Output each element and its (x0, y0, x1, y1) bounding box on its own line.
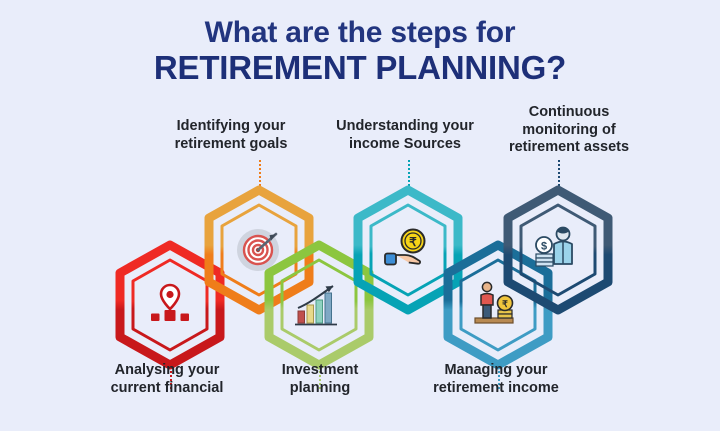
connector-dotted-continuous-monitoring (558, 160, 560, 186)
connector-dotted-identifying-retirement-goals (259, 160, 261, 186)
step-label-continuous-monitoring: Continuous monitoring of retirement asse… (459, 104, 679, 157)
infographic-canvas: What are the steps for RETIREMENT PLANNI… (0, 0, 720, 431)
title-line-2: RETIREMENT PLANNING? (0, 50, 720, 87)
step-label-managing-retirement-income: Managing your retirement income (386, 362, 606, 397)
hexagon-step-continuous-monitoring[interactable]: $ (500, 186, 616, 314)
connector-dotted-understanding-income-sources (408, 160, 410, 186)
title-line-1: What are the steps for (0, 16, 720, 50)
page-title: What are the steps for RETIREMENT PLANNI… (0, 16, 720, 87)
